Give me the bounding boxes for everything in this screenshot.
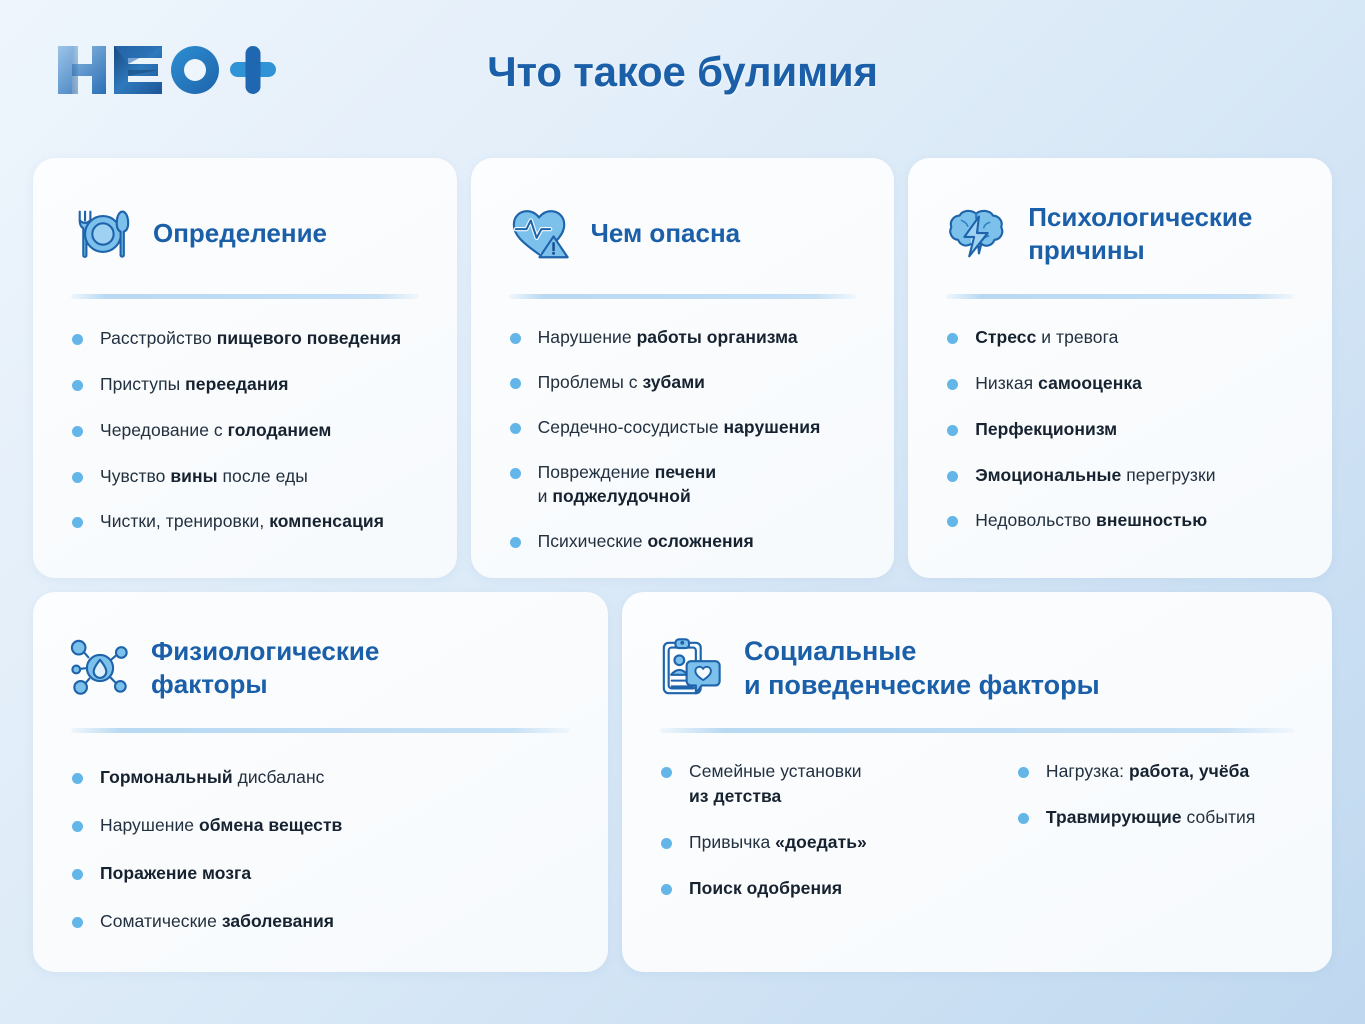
- card-header: Физиологическиефакторы: [63, 622, 578, 714]
- list-item: Семейные установкииз детства: [660, 759, 1007, 809]
- card-title: Чем опасна: [591, 217, 741, 250]
- card-list-columns: Семейные установкииз детстваПривычка «до…: [652, 759, 1302, 900]
- cards-row-bottom: Физиологическиефакторы Гормональный дисб…: [33, 592, 1332, 972]
- cards-row-top: Определение Расстройство пищевого поведе…: [33, 158, 1332, 578]
- card-dangers[interactable]: Чем опасна Нарушение работы организмаПро…: [471, 158, 895, 578]
- list-item: Перфекционизм: [946, 417, 1302, 442]
- list-item: Чистки, тренировки, компенсация: [71, 509, 427, 534]
- list-item: Недовольство внешностью: [946, 508, 1302, 533]
- card-list: Гормональный дисбалансНарушение обмена в…: [63, 765, 578, 933]
- list-item: Гормональный дисбаланс: [71, 765, 578, 790]
- list-item: Эмоциональные перегрузки: [946, 463, 1302, 488]
- cards-board: Определение Расстройство пищевого поведе…: [33, 158, 1332, 972]
- list-item: Поиск одобрения: [660, 876, 1007, 901]
- list-item: Расстройство пищевого поведения: [71, 326, 427, 351]
- brain-lightning-icon: [946, 203, 1008, 265]
- card-title: Физиологическиефакторы: [151, 635, 379, 701]
- card-list: Стресс и тревогаНизкая самооценкаПерфекц…: [938, 325, 1302, 533]
- page-title: Что такое булимия: [0, 48, 1365, 96]
- list-item: Приступы переедания: [71, 372, 427, 397]
- page-header: Что такое булимия: [0, 0, 1365, 140]
- card-psychological-causes[interactable]: Психологическиепричины Стресс и тревогаН…: [908, 158, 1332, 578]
- card-title: Психологическиепричины: [1028, 201, 1252, 267]
- card-list-right: Нагрузка: работа, учёбаТравмирующие собы…: [1017, 759, 1302, 900]
- card-divider: [946, 294, 1294, 299]
- list-item: Травмирующие события: [1017, 805, 1302, 830]
- list-item: Низкая самооценка: [946, 371, 1302, 396]
- list-item: Поражение мозга: [71, 861, 578, 886]
- card-divider: [509, 294, 857, 299]
- heart-pulse-warning-icon: [509, 203, 571, 265]
- list-item: Психические осложнения: [509, 529, 865, 554]
- molecule-droplet-icon: [69, 637, 131, 699]
- list-item: Нарушение обмена веществ: [71, 813, 578, 838]
- card-divider: [71, 728, 570, 733]
- list-item: Стресс и тревога: [946, 325, 1302, 350]
- card-title: Определение: [153, 217, 327, 250]
- clipboard-person-heart-icon: [658, 635, 724, 701]
- list-item: Чередование с голоданием: [71, 418, 427, 443]
- list-item: Привычка «доедать»: [660, 830, 1007, 855]
- card-list-left: Семейные установкииз детстваПривычка «до…: [660, 759, 1007, 900]
- card-physiological-factors[interactable]: Физиологическиефакторы Гормональный дисб…: [33, 592, 608, 972]
- card-list: Расстройство пищевого поведенияПриступы …: [63, 326, 427, 534]
- list-item: Чувство вины после еды: [71, 464, 427, 489]
- list-item: Сердечно-сосудистые нарушения: [509, 415, 865, 440]
- list-item: Проблемы с зубами: [509, 370, 865, 395]
- list-item: Повреждение печении поджелудочной: [509, 460, 865, 510]
- card-header: Чем опасна: [501, 188, 865, 280]
- card-title: Социальныеи поведенческие факторы: [744, 634, 1100, 703]
- card-divider: [71, 294, 419, 299]
- list-item: Соматические заболевания: [71, 909, 578, 934]
- card-list: Нарушение работы организмаПроблемы с зуб…: [501, 325, 865, 554]
- card-definition[interactable]: Определение Расстройство пищевого поведе…: [33, 158, 457, 578]
- card-divider: [660, 728, 1294, 733]
- list-item: Нарушение работы организма: [509, 325, 865, 350]
- card-social-behavioral-factors[interactable]: Социальныеи поведенческие факторы Семейн…: [622, 592, 1332, 972]
- card-header: Определение: [63, 188, 427, 280]
- plate-fork-knife-icon: [71, 203, 133, 265]
- list-item: Нагрузка: работа, учёба: [1017, 759, 1302, 784]
- card-header: Социальныеи поведенческие факторы: [652, 622, 1302, 714]
- card-header: Психологическиепричины: [938, 188, 1302, 280]
